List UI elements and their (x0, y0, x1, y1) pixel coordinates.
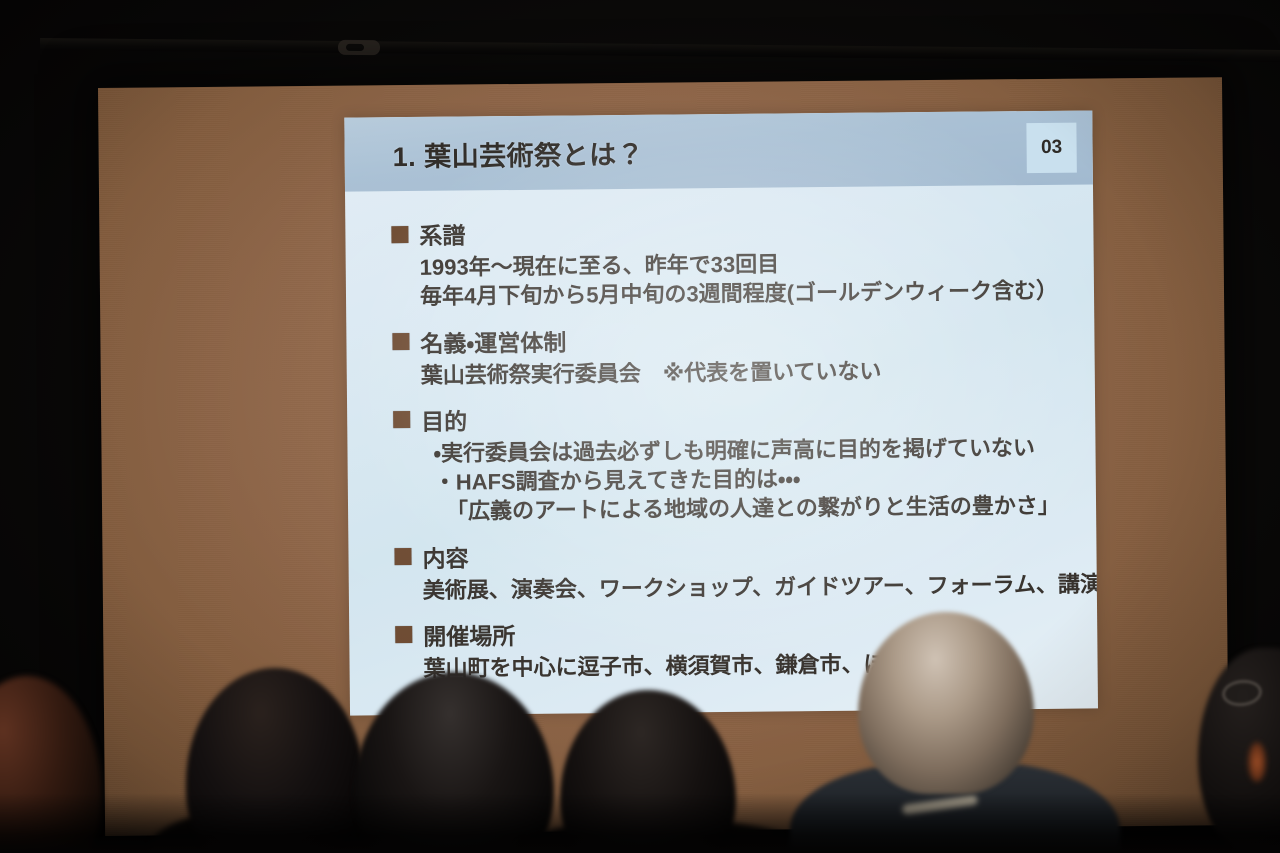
slide-section: 目的 ・実行委員会は過去必ずしも明確に声高に目的を掲げていない ・HAFS調査か… (393, 396, 1066, 526)
section-heading-row: 内容 (394, 533, 1066, 573)
slide-title-band: 1. 葉山芸術祭とは？ 03 (344, 110, 1093, 191)
section-heading-label: 名義・運営体制 (420, 323, 566, 358)
projection-screen: 1. 葉山芸術祭とは？ 03 系譜 1993年〜現在に至る、昨年で33回目 毎年… (98, 77, 1229, 836)
section-body-line: 「広義のアートによる地域の人達との繋がりと生活の豊かさ」 (446, 491, 1066, 526)
square-bullet-icon (394, 548, 411, 565)
section-heading-row: 開催場所 (395, 611, 1067, 651)
slide-section: 名義・運営体制 葉山芸術祭実行委員会 ※代表を置いていない (392, 318, 1065, 390)
photo-stage: 1. 葉山芸術祭とは？ 03 系譜 1993年〜現在に至る、昨年で33回目 毎年… (0, 0, 1280, 853)
section-heading-row: 名義・運営体制 (392, 318, 1064, 358)
slide-page-number-badge: 03 (1026, 123, 1076, 173)
section-heading-label: 目的 (421, 402, 467, 436)
section-body-line: 葉山町を中心に逗子市、横須賀市、鎌倉市、ほか (423, 647, 1067, 682)
slide-section: 系譜 1993年〜現在に至る、昨年で33回目 毎年4月下旬から5月中旬の3週間程… (391, 211, 1064, 312)
section-heading-label: 開催場所 (423, 617, 515, 652)
section-heading-row: 系譜 (391, 211, 1063, 251)
presentation-slide: 1. 葉山芸術祭とは？ 03 系譜 1993年〜現在に至る、昨年で33回目 毎年… (344, 110, 1098, 715)
slide-section: 開催場所 葉山町を中心に逗子市、横須賀市、鎌倉市、ほか (395, 611, 1068, 683)
section-heading-label: 内容 (422, 539, 468, 573)
square-bullet-icon (392, 333, 409, 350)
slide-section: 内容 美術展、演奏会、ワークショップ、ガイドツアー、フォーラム、講演、など (394, 533, 1067, 605)
section-body-line: 美術展、演奏会、ワークショップ、ガイドツアー、フォーラム、講演、など (423, 569, 1067, 604)
slide-body: 系譜 1993年〜現在に至る、昨年で33回目 毎年4月下旬から5月中旬の3週間程… (345, 184, 1098, 683)
section-body-line: ・実行委員会は過去必ずしも明確に声高に目的を掲げていない (433, 432, 1065, 467)
slide-title: 1. 葉山芸術祭とは？ (392, 132, 644, 173)
section-heading-row: 目的 (393, 396, 1065, 436)
section-body-line: 毎年4月下旬から5月中旬の3週間程度(ゴールデンウィーク含む） (420, 276, 1064, 311)
section-heading-label: 系譜 (419, 216, 465, 250)
square-bullet-icon (391, 226, 408, 243)
section-body-line: 葉山芸術祭実行委員会 ※代表を置いていない (421, 354, 1065, 389)
square-bullet-icon (395, 626, 412, 643)
rail-clip-hardware (338, 40, 380, 55)
square-bullet-icon (393, 411, 410, 428)
